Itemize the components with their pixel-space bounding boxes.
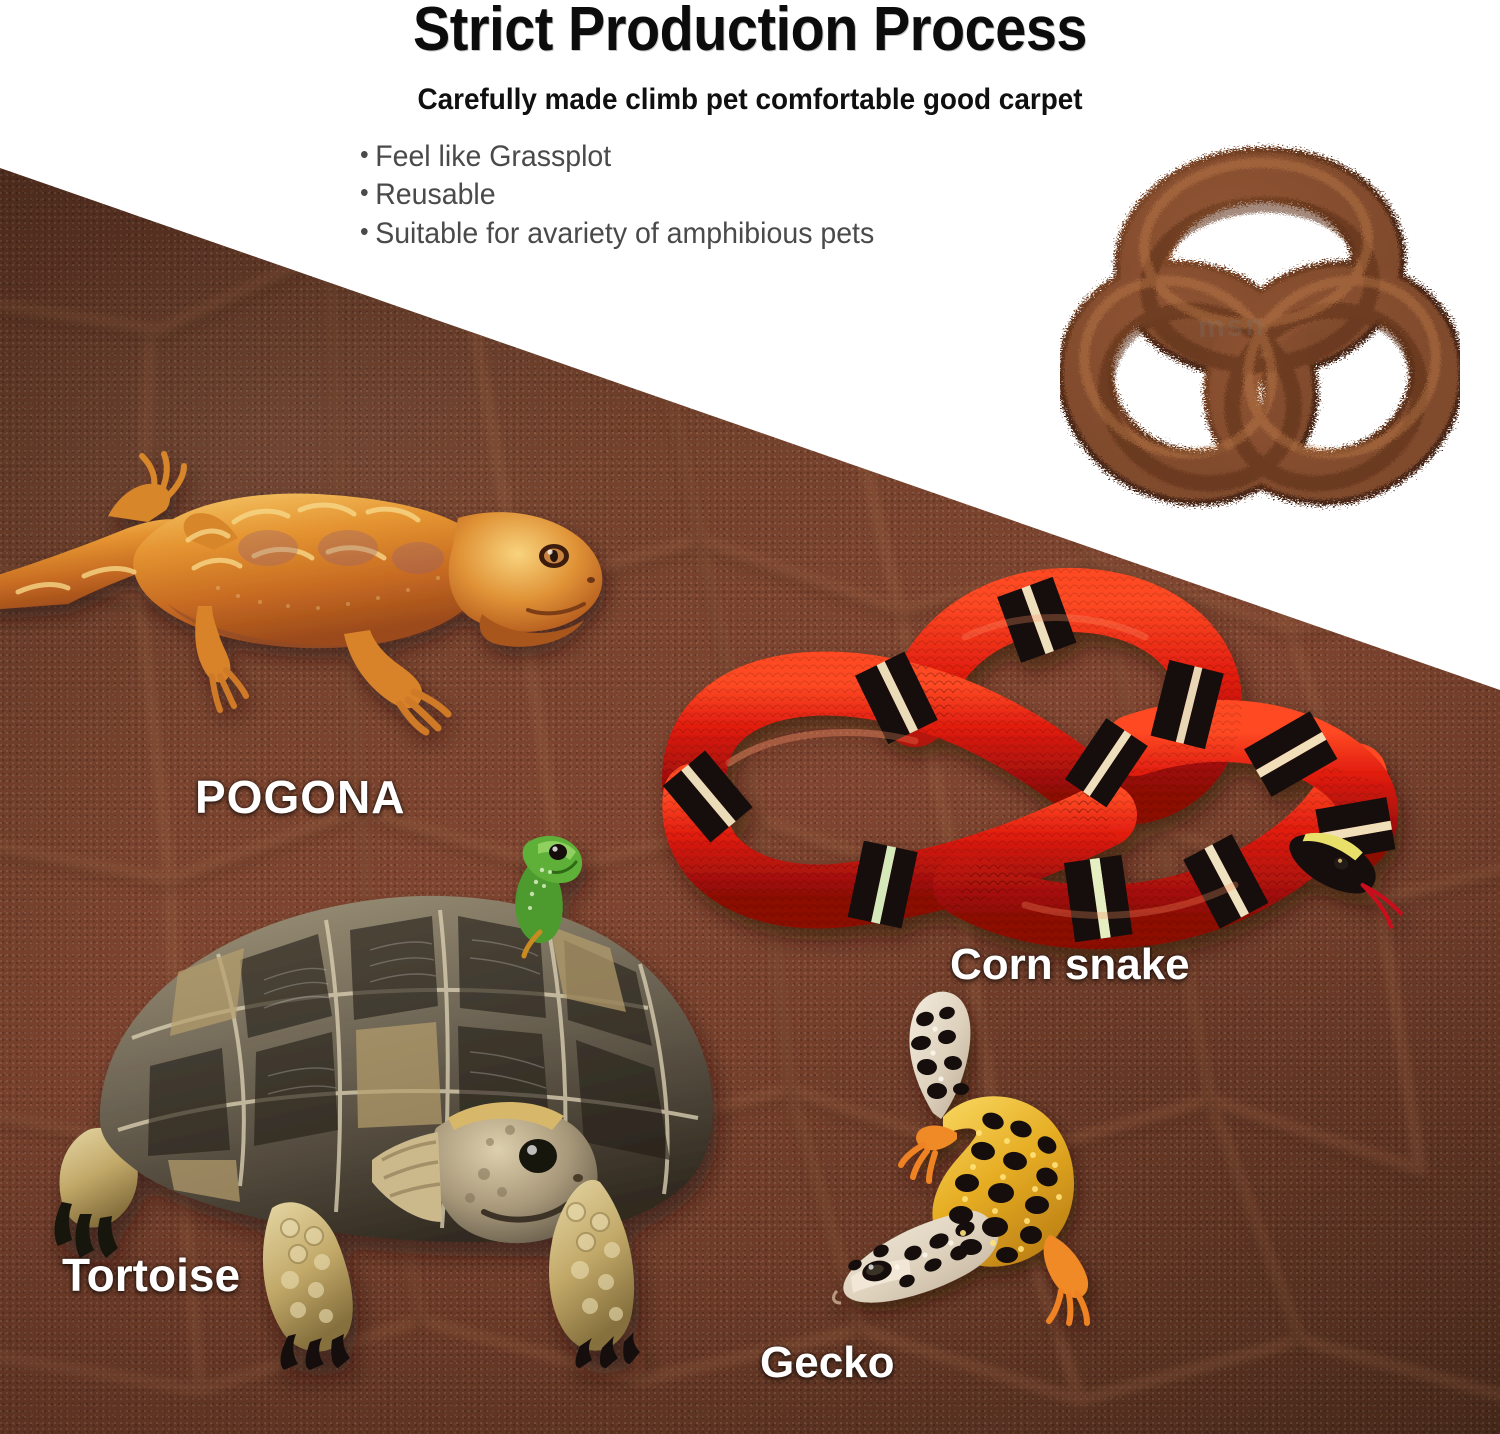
bullet-dot-icon: • [360, 215, 375, 248]
bullet-text: Reusable [375, 176, 495, 214]
list-item: • Reusable [360, 176, 874, 214]
header-block: Strict Production Process Carefully made… [0, 0, 1500, 117]
animal-leopard-gecko [815, 985, 1145, 1325]
poster-canvas: msn [0, 0, 1500, 1434]
fur-carpet-knot-image: msn [1060, 135, 1460, 525]
animal-pogona-bearded-dragon [0, 398, 628, 748]
animal-corn-snake [665, 565, 1375, 935]
bullet-dot-icon: • [360, 176, 375, 209]
feature-bullet-list: • Feel like Grassplot • Reusable • Suita… [360, 138, 901, 253]
page-subtitle: Carefully made climb pet comfortable goo… [53, 83, 1448, 117]
bullet-text: Suitable for avariety of amphibious pets [375, 215, 874, 253]
animal-tortoise [40, 830, 770, 1370]
bullet-dot-icon: • [360, 138, 375, 171]
list-item: • Feel like Grassplot [360, 138, 874, 176]
page-title: Strict Production Process [75, 0, 1425, 61]
list-item: • Suitable for avariety of amphibious pe… [360, 215, 874, 253]
bullet-text: Feel like Grassplot [375, 138, 611, 176]
